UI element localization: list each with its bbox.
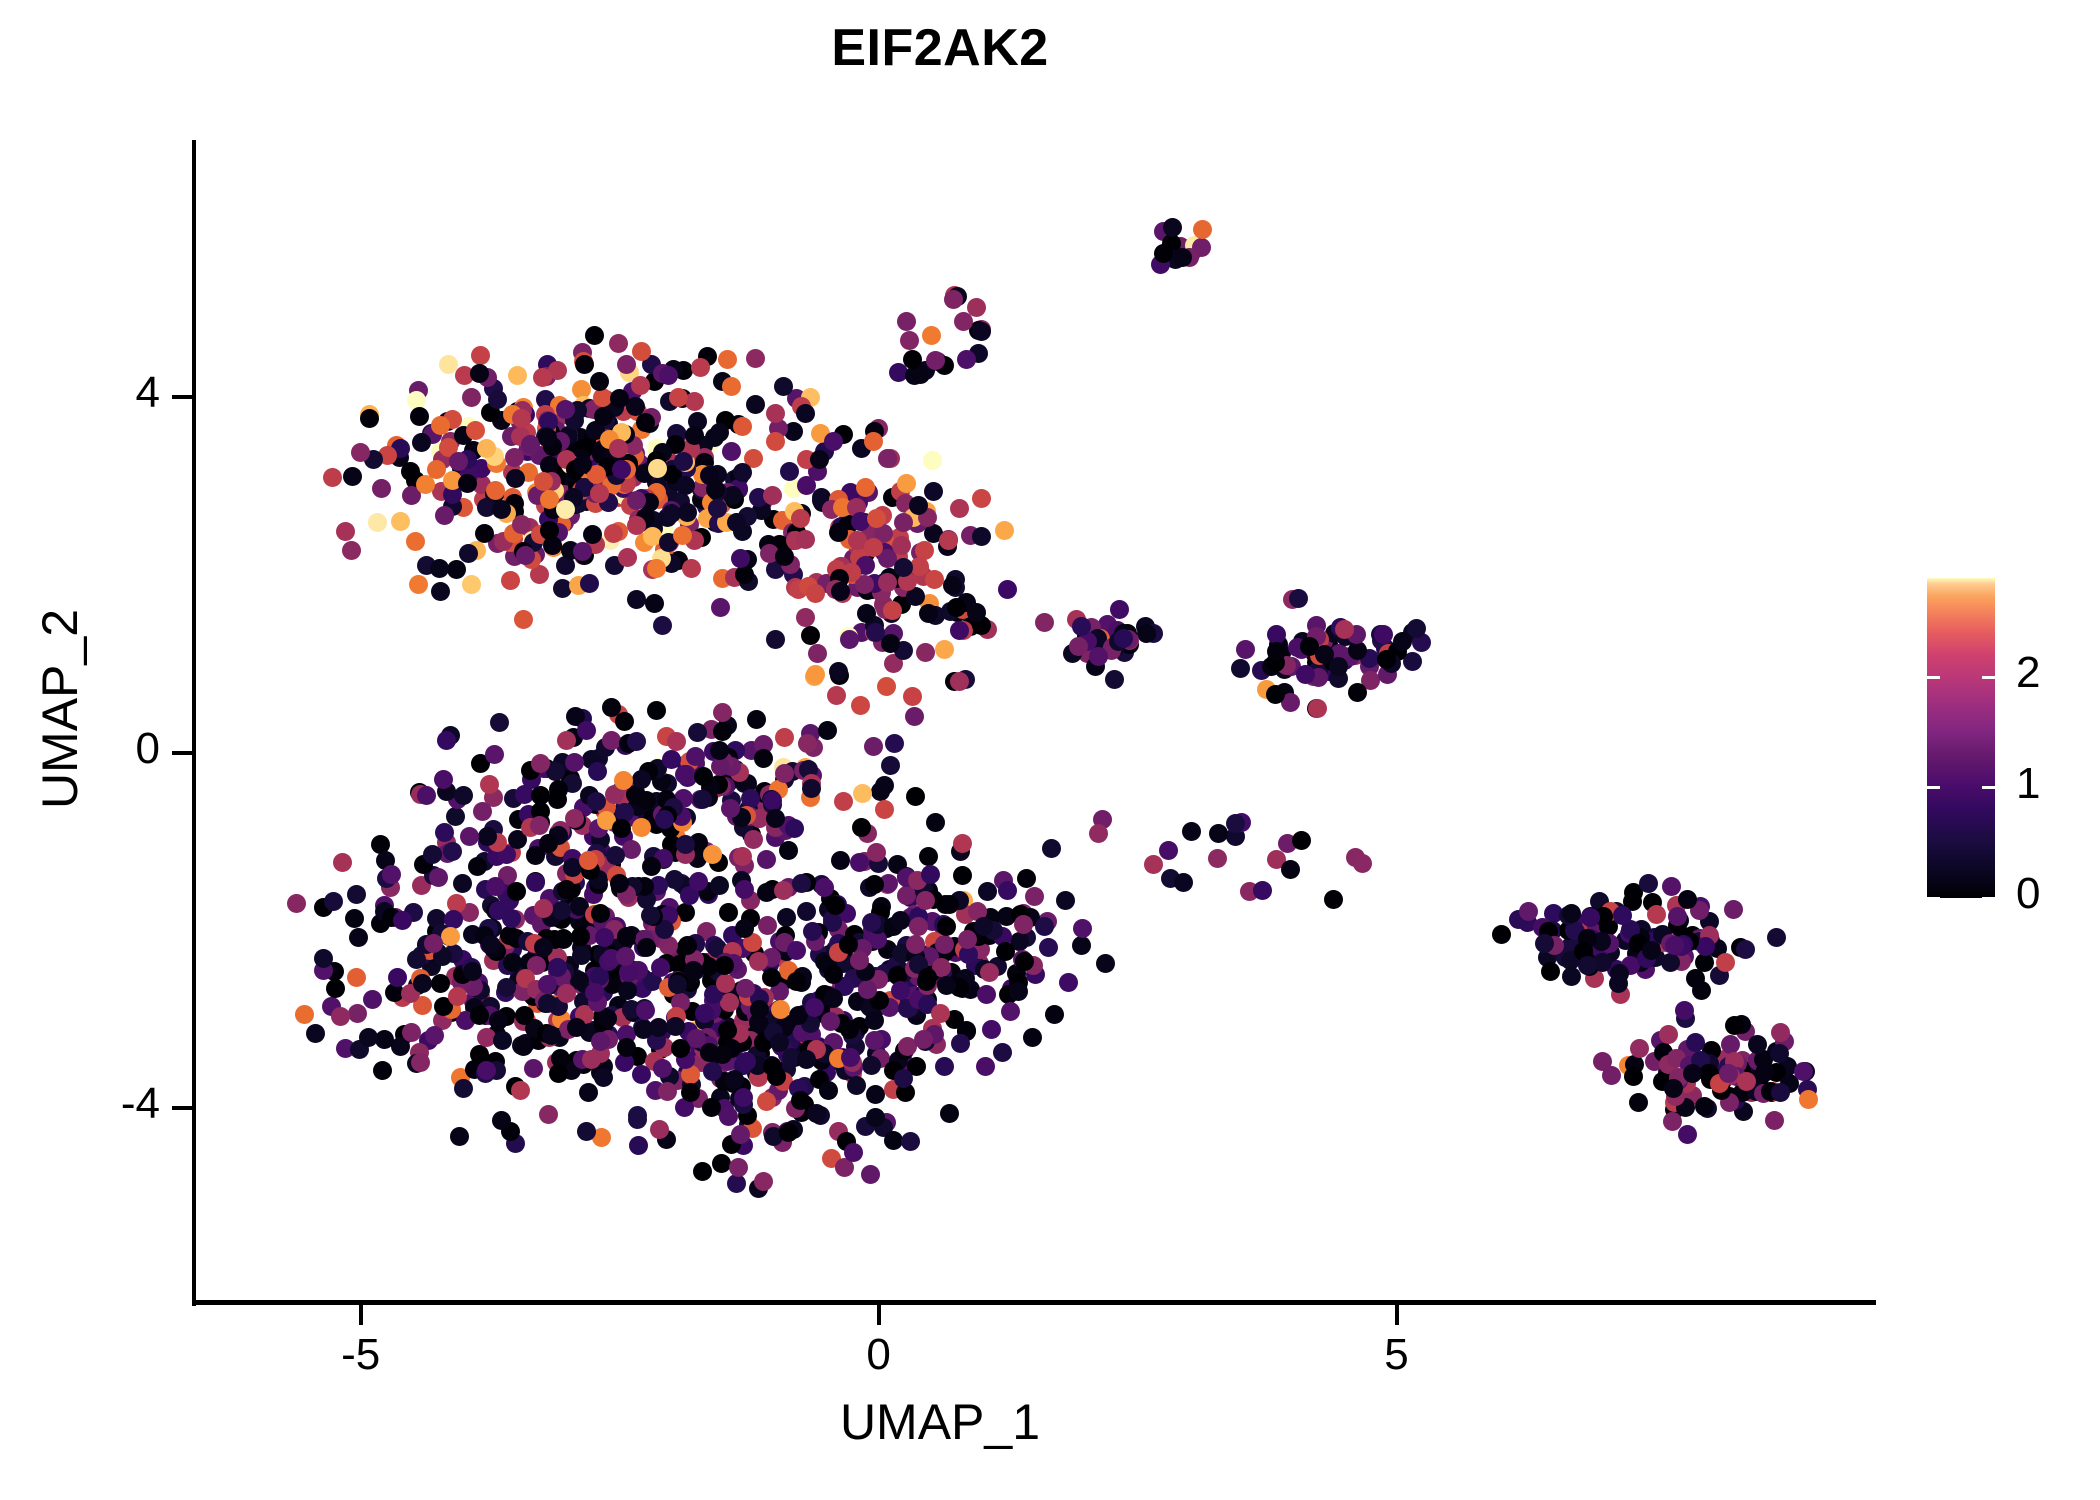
scatter-point [926,813,945,832]
scatter-point [434,770,453,789]
scatter-point [675,765,694,784]
scatter-point [552,901,571,920]
scatter-point [591,904,610,923]
scatter-point [798,734,817,753]
scatter-point [437,731,456,750]
scatter-point [906,787,925,806]
scatter-point [779,841,798,860]
scatter-point [977,985,996,1004]
scatter-point [733,847,752,866]
scatter-point [919,847,938,866]
scatter-point [744,830,763,849]
scatter-point [791,1091,810,1110]
scatter-point [360,409,379,428]
scatter-point [466,421,485,440]
scatter-point [632,770,651,789]
scatter-point [642,857,661,876]
scatter-point [1724,900,1743,919]
scatter-point [844,1143,863,1162]
scatter-point [1541,962,1560,981]
scatter-point [1236,640,1255,659]
scatter-point [705,428,724,447]
scatter-point [531,754,550,773]
scatter-point [333,853,352,872]
scatter-point [1001,1002,1020,1021]
scatter-point [711,598,730,617]
scatter-point [746,395,765,414]
scatter-point [1736,940,1755,959]
scatter-point [430,559,449,578]
scatter-point [1017,869,1036,888]
scatter-point [647,701,666,720]
scatter-point [703,845,722,864]
scatter-point [1014,915,1033,934]
y-tick-mark [172,751,192,755]
scatter-point [587,792,606,811]
scatter-point [1771,1083,1790,1102]
scatter-point [634,1020,653,1039]
scatter-point [722,377,741,396]
scatter-point [653,616,672,635]
scatter-point [619,963,638,982]
scatter-point [1174,873,1193,892]
scatter-point [417,786,436,805]
scatter-point [447,560,466,579]
scatter-point [548,958,567,977]
scatter-point [591,1032,610,1051]
scatter-point [1678,1125,1697,1144]
scatter-point [557,731,576,750]
scatter-point [865,875,884,894]
scatter-point [1292,831,1311,850]
scatter-point [1163,218,1182,237]
scatter-point [382,865,401,884]
colorbar-tick-mark [1982,897,1995,900]
scatter-point [864,538,883,557]
scatter-point [947,598,966,617]
colorbar-tick-mark [1927,897,1940,900]
scatter-point [719,903,738,922]
scatter-point [967,603,986,622]
scatter-point [1208,849,1227,868]
scatter-point [871,782,890,801]
scatter-point [1025,887,1044,906]
scatter-point [351,443,370,462]
page-title: EIF2AK2 [0,18,1880,78]
scatter-point [637,938,656,957]
scatter-point [658,1082,677,1101]
scatter-point [796,608,815,627]
y-axis-line [192,140,196,1306]
scatter-point [894,558,913,577]
scatter-point [862,913,881,932]
scatter-point [636,1001,655,1020]
scatter-point [894,1069,913,1088]
scatter-point [681,1083,700,1102]
scatter-point [429,868,448,887]
scatter-point [577,721,596,740]
scatter-point [1056,891,1075,910]
scatter-point [722,442,741,461]
colorbar-tick-mark [1982,676,1995,679]
scatter-point [590,484,609,503]
x-tick-label: -5 [301,1330,421,1380]
scatter-point [331,1007,350,1026]
scatter-point [840,630,859,649]
scatter-point [924,482,943,501]
scatter-point [477,1061,496,1080]
scatter-point [1770,1044,1789,1063]
scatter-point [612,460,631,479]
scatter-point [867,509,886,528]
x-axis-label: UMAP_1 [0,1393,1880,1451]
scatter-point [662,750,681,769]
scatter-point [824,432,843,451]
scatter-point [604,524,623,543]
scatter-point [549,1064,568,1083]
scatter-point [891,981,910,1000]
scatter-point [412,433,431,452]
scatter-point [1042,839,1061,858]
scatter-point [1045,1005,1064,1024]
scatter-point [1144,855,1163,874]
scatter-point [937,917,956,936]
scatter-point [632,818,651,837]
scatter-point [372,479,391,498]
scatter-point [998,580,1017,599]
scatter-point [473,802,492,821]
scatter-point [454,786,473,805]
scatter-point [424,934,443,953]
scatter-point [693,1162,712,1181]
scatter-point [462,388,481,407]
scatter-point [831,851,850,870]
x-tick-label: 5 [1337,1330,1457,1380]
scatter-point [921,865,940,884]
scatter-point [1182,822,1201,841]
scatter-point [609,334,628,353]
scatter-point [864,737,883,756]
scatter-point [905,707,924,726]
scatter-point [995,521,1014,540]
scatter-point [1059,973,1078,992]
scatter-point [1624,1067,1643,1086]
scatter-point [766,432,785,451]
scatter-point [676,476,695,495]
scatter-point [866,623,885,642]
scatter-point [1267,625,1286,644]
scatter-point [583,525,602,544]
scatter-point [507,882,526,901]
scatter-point [1114,629,1133,648]
scatter-point [409,575,428,594]
scatter-point [1308,699,1327,718]
scatter-point [324,892,343,911]
scatter-point [1159,841,1178,860]
scatter-point [471,346,490,365]
scatter-point [462,575,481,594]
scatter-point [774,881,793,900]
scatter-point [1686,969,1705,988]
scatter-point [666,1017,685,1036]
scatter-point [796,530,815,549]
scatter-point [463,962,482,981]
scatter-point [336,522,355,541]
scatter-point [627,732,646,751]
scatter-point [1407,619,1426,638]
colorbar-tick-label: 1 [2016,759,2040,809]
scatter-point [829,523,848,542]
scatter-point [1266,685,1285,704]
scatter-point [1737,1072,1756,1091]
scatter-point [478,827,497,846]
scatter-point [542,1026,561,1045]
scatter-point [980,963,999,982]
scatter-point [747,710,766,729]
scatter-point [897,474,916,493]
scatter-point [1353,854,1372,873]
scatter-point [577,1122,596,1141]
scatter-point [565,753,584,772]
scatter-point [500,926,519,945]
scatter-point [780,462,799,481]
scatter-point [606,846,625,865]
scatter-point [659,366,678,385]
scatter-point [923,451,942,470]
scatter-point [1492,925,1511,944]
y-axis-label: UMAP_2 [31,409,89,1009]
scatter-point [918,968,937,987]
scatter-point [883,601,902,620]
scatter-point [1009,982,1028,1001]
scatter-point [554,929,573,948]
scatter-point [684,961,703,980]
scatter-point [1015,952,1034,971]
y-tick-mark [172,1106,192,1110]
scatter-point [901,1132,920,1151]
scatter-point [881,756,900,775]
scatter-point [766,630,785,649]
scatter-point [667,732,686,751]
scatter-point [884,1131,903,1150]
scatter-point [993,1043,1012,1062]
plot-panel [195,140,1873,1303]
scatter-point [470,1006,489,1025]
scatter-point [864,432,883,451]
scatter-point [1602,1066,1621,1085]
x-tick-label: 0 [819,1330,939,1380]
scatter-point [486,481,505,500]
scatter-point [1609,974,1628,993]
scatter-point [368,513,387,532]
colorbar-tick-label: 0 [2016,869,2040,919]
scatter-point [861,1165,880,1184]
scatter-point [824,965,843,984]
scatter-point [718,350,737,369]
scatter-point [490,713,509,732]
scatter-point [682,559,701,578]
scatter-point [391,512,410,531]
scatter-point [1664,1079,1683,1098]
scatter-point [909,496,928,515]
scatter-point [441,927,460,946]
scatter-point [735,919,754,938]
scatter-point [1659,1025,1678,1044]
scatter-point [287,894,306,913]
scatter-point [1296,665,1315,684]
scatter-point [427,460,446,479]
scatter-point [488,390,507,409]
scatter-point [431,582,450,601]
scatter-point [618,548,637,567]
scatter-point [858,980,877,999]
scatter-point [1096,954,1115,973]
scatter-point [827,686,846,705]
scatter-point [645,594,664,613]
scatter-point [575,355,594,374]
scatter-point [594,407,613,426]
scatter-point [897,312,916,331]
scatter-point [903,350,922,369]
scatter-point [450,1127,469,1146]
scatter-point [1110,600,1129,619]
scatter-point [826,896,845,915]
scatter-point [797,1050,816,1069]
scatter-point [741,789,760,808]
scatter-point [829,662,848,681]
scatter-point [533,368,552,387]
scatter-point [694,767,713,786]
scatter-point [972,489,991,508]
scatter-point [791,509,810,528]
scatter-point [940,1104,959,1123]
scatter-point [669,388,688,407]
scatter-point [512,409,531,428]
scatter-point [1678,890,1697,909]
scatter-point [1755,1063,1774,1082]
scatter-point [641,906,660,925]
scatter-point [736,979,755,998]
scatter-point [944,290,963,309]
scatter-point [618,981,637,1000]
scatter-point [676,835,695,854]
scatter-point [865,1031,884,1050]
scatter-point [435,506,454,525]
scatter-point [295,1005,314,1024]
scatter-point [548,790,567,809]
scatter-point [347,968,366,987]
scatter-point [454,1079,473,1098]
scatter-point [1072,936,1091,955]
scatter-point [598,1009,617,1028]
scatter-point [710,876,729,895]
scatter-point [468,857,487,876]
scatter-point [349,928,368,947]
scatter-point [903,687,922,706]
scatter-point [950,499,969,518]
scatter-point [1581,908,1600,927]
scatter-point [411,1053,430,1072]
scatter-point [359,1028,378,1047]
scatter-point [588,762,607,781]
scatter-point [689,872,708,891]
scatter-point [508,366,527,385]
scatter-point [774,377,793,396]
scatter-point [877,677,896,696]
scatter-point [1799,1090,1818,1109]
scatter-point [345,909,364,928]
scatter-point [1089,824,1108,843]
scatter-point [775,728,794,747]
scatter-point [1562,967,1581,986]
scatter-point [539,1105,558,1124]
scatter-point [1226,814,1245,833]
scatter-point [343,467,362,486]
scatter-point [770,1033,789,1052]
scatter-point [691,358,710,377]
scatter-point [1324,890,1343,909]
scatter-point [757,883,776,902]
y-tick-mark [172,395,192,399]
scatter-point [363,990,382,1009]
scatter-point [733,417,752,436]
colorbar [1927,578,1995,898]
scatter-point [435,823,454,842]
scatter-point [718,1021,737,1040]
scatter-point [711,757,730,776]
scatter-point [431,416,450,435]
scatter-point [673,526,692,545]
scatter-point [612,819,631,838]
scatter-point [824,989,843,1008]
x-axis-line [192,1300,1876,1305]
scatter-point [631,376,650,395]
scatter-point [1629,1093,1648,1112]
scatter-point [801,626,820,645]
scatter-point [731,1125,750,1144]
scatter-point [1089,647,1108,666]
scatter-point [1289,589,1308,608]
scatter-point [1023,1028,1042,1047]
scatter-point [712,1154,731,1173]
scatter-point [565,809,584,828]
scatter-point [423,845,442,864]
umap-feature-plot: EIF2AK2 -505 40-4 UMAP_1 UMAP_2 210 [0,0,2100,1500]
scatter-point [810,450,829,469]
scatter-point [763,791,782,810]
scatter-point [530,816,549,835]
scatter-point [815,878,834,897]
scatter-point [925,570,944,589]
scatter-point [857,604,876,623]
scatter-point [326,979,345,998]
scatter-point [891,911,910,930]
scatter-point [878,573,897,592]
scatter-point [410,407,429,426]
scatter-point [875,800,894,819]
scatter-point [818,721,837,740]
scatter-point [866,1085,885,1104]
scatter-point [431,974,450,993]
scatter-point [1794,1062,1813,1081]
scatter-point [909,917,928,936]
scatter-point [867,843,886,862]
scatter-point [737,1052,756,1071]
scatter-point [703,1062,722,1081]
scatter-point [538,994,557,1013]
colorbar-tick-label: 2 [2016,648,2040,698]
scatter-point [972,527,991,546]
